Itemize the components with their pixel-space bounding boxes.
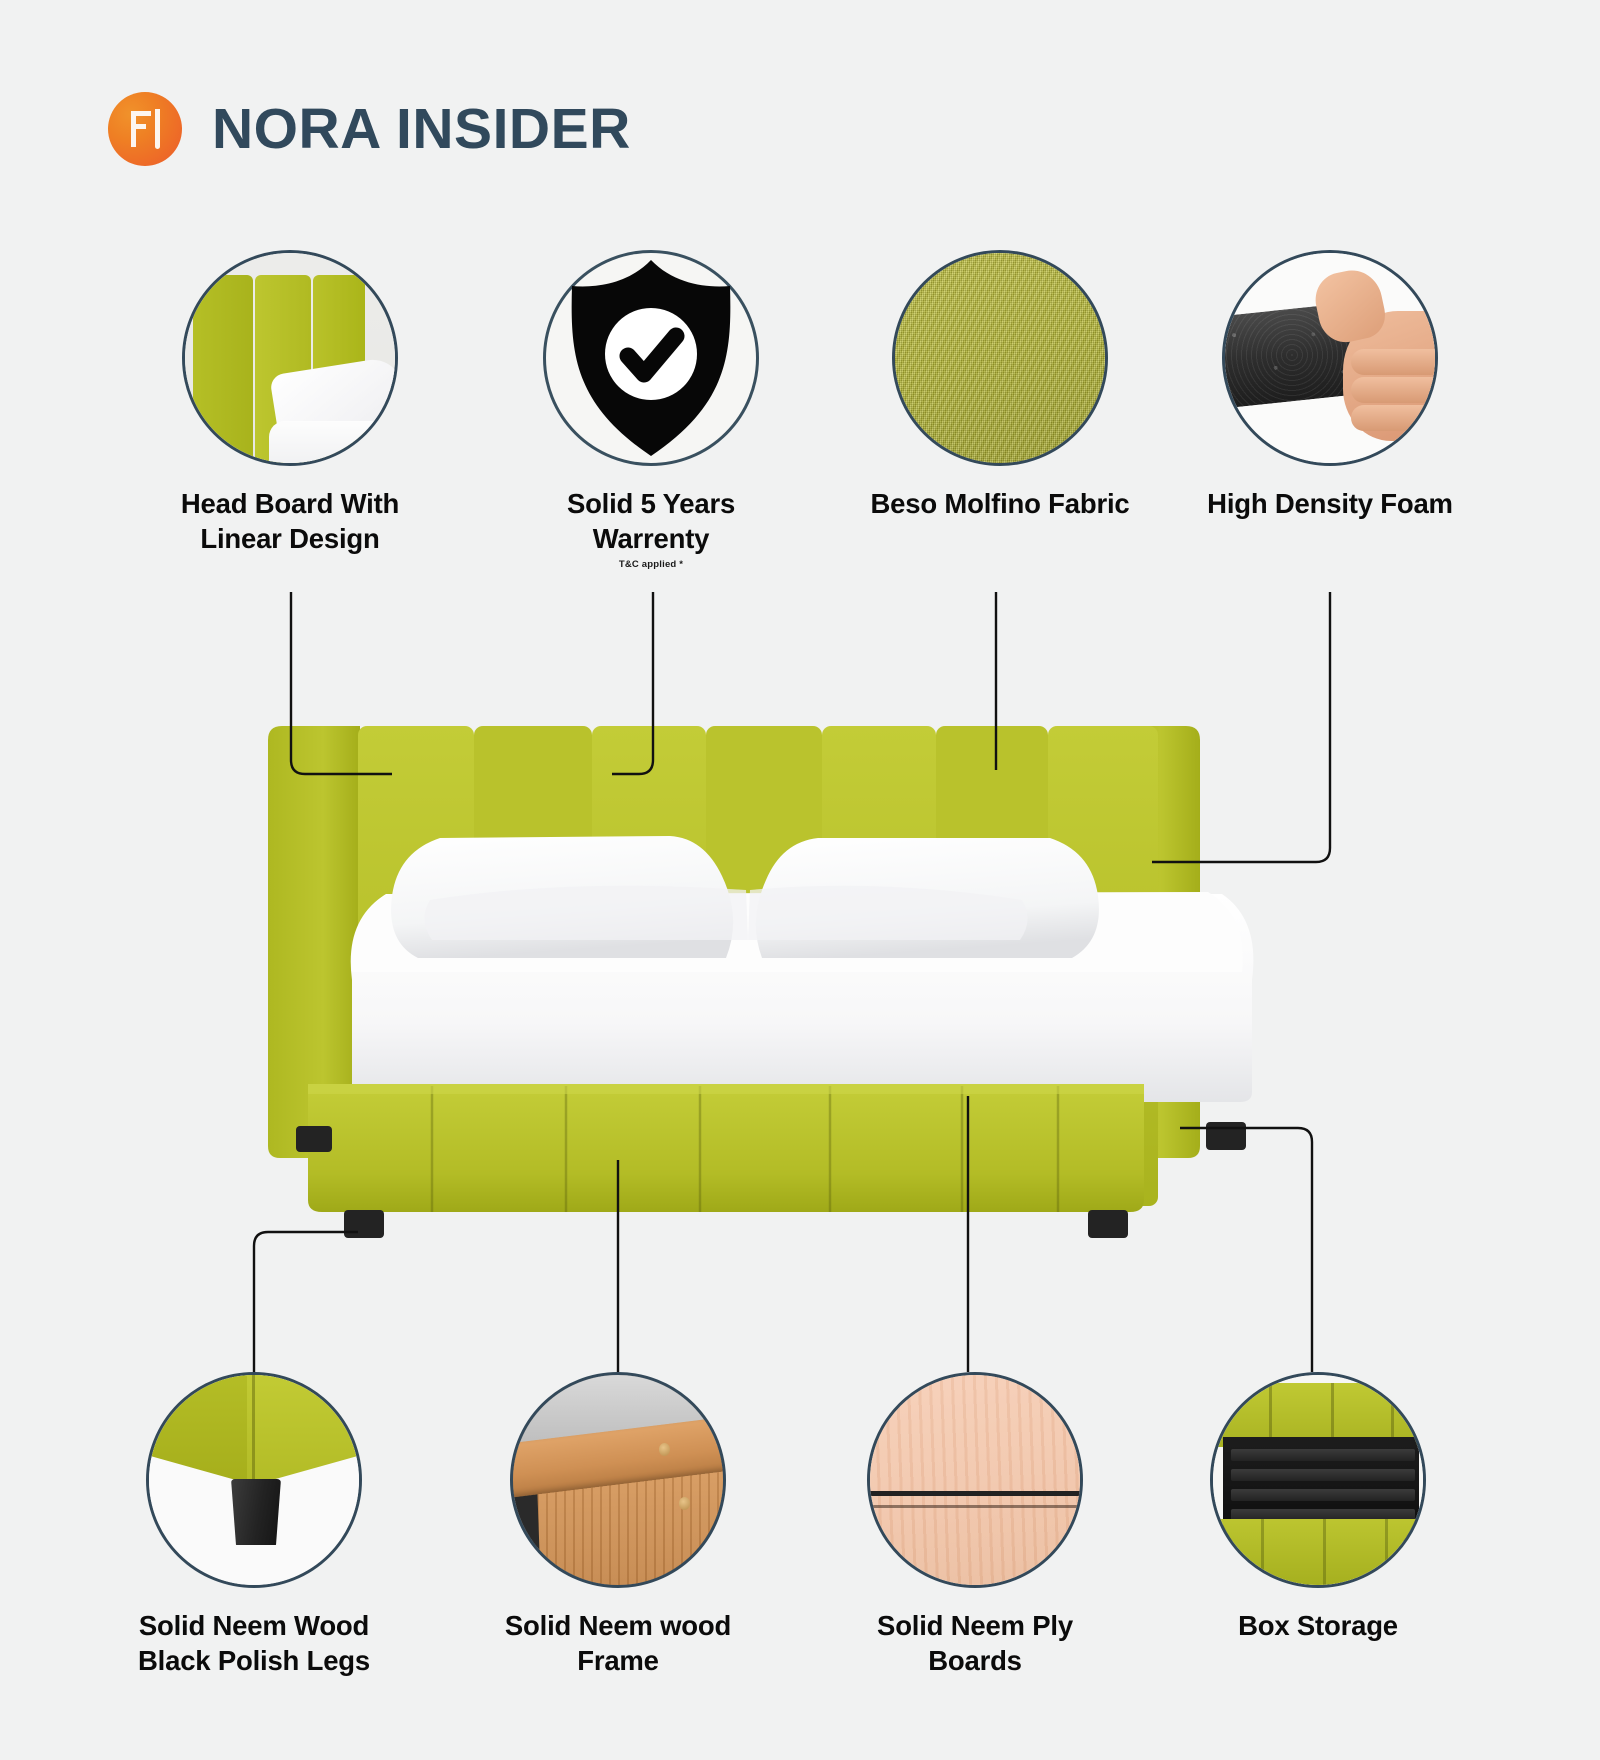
feature-label: Head Board With Linear Design <box>160 486 420 556</box>
feature-label: Solid Neem wood Frame <box>488 1608 748 1678</box>
foam-block-icon <box>1222 250 1438 466</box>
feature-label: Solid Neem Wood Black Polish Legs <box>124 1608 384 1678</box>
feature-head-board[interactable]: Head Board With Linear Design <box>160 250 420 556</box>
feature-storage[interactable]: Box Storage <box>1188 1372 1448 1643</box>
feature-label: High Density Foam <box>1200 486 1460 521</box>
feature-warranty[interactable]: Solid 5 Years Warrenty T&C applied * <box>521 250 781 570</box>
feature-frame[interactable]: Solid Neem wood Frame <box>488 1372 748 1678</box>
feature-label: Solid 5 Years Warrenty <box>521 486 781 556</box>
wood-frame-icon <box>510 1372 726 1588</box>
feature-label: Solid Neem Ply Boards <box>845 1608 1105 1678</box>
bed-leg-icon <box>146 1372 362 1588</box>
feature-legs[interactable]: Solid Neem Wood Black Polish Legs <box>124 1372 384 1678</box>
shield-check-icon <box>543 250 759 466</box>
feature-sublabel: T&C applied * <box>521 559 781 570</box>
ply-board-icon <box>867 1372 1083 1588</box>
infographic-page: NORA INSIDER <box>0 0 1600 1760</box>
fabric-swatch-icon <box>892 250 1108 466</box>
feature-foam[interactable]: High Density Foam <box>1200 250 1460 521</box>
feature-label: Box Storage <box>1188 1608 1448 1643</box>
box-storage-icon <box>1210 1372 1426 1588</box>
feature-fabric[interactable]: Beso Molfino Fabric <box>870 250 1130 521</box>
feature-ply[interactable]: Solid Neem Ply Boards <box>845 1372 1105 1678</box>
feature-label: Beso Molfino Fabric <box>870 486 1130 521</box>
headboard-photo-icon <box>182 250 398 466</box>
